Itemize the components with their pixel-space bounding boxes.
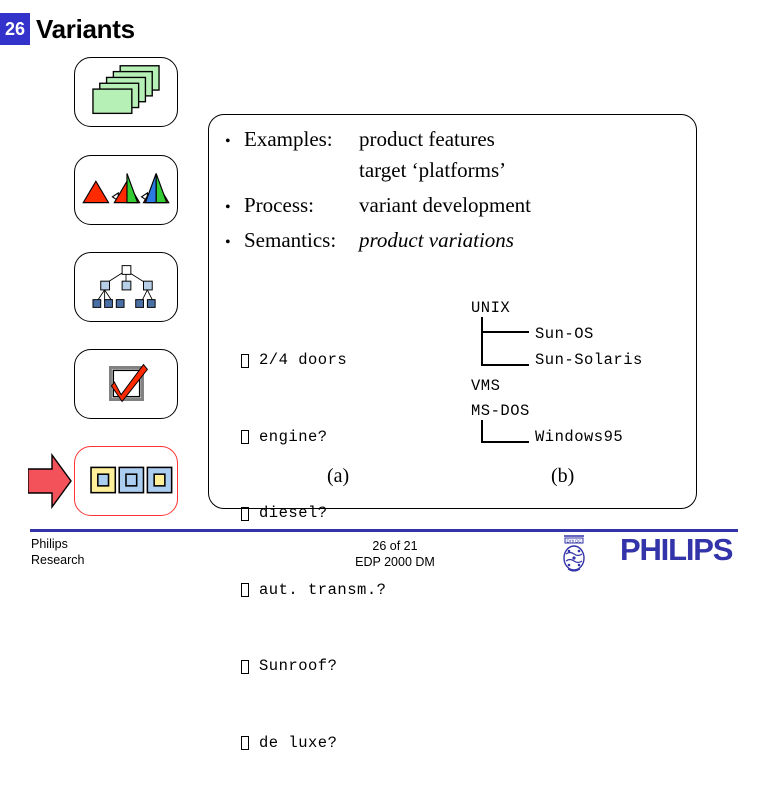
bullet-value: product variations — [359, 228, 514, 253]
figure-caption-b: (b) — [551, 465, 574, 488]
tree-node-sun-solaris[interactable]: Sun-Solaris — [535, 351, 643, 369]
bullet-label: Examples: — [244, 127, 359, 152]
feature-label: 2/4 doors — [259, 348, 347, 374]
bullet-value: product features — [359, 127, 495, 152]
svg-text:DHI DC: DHI DC — [566, 538, 581, 543]
sidebar-tile-hierarchy[interactable] — [74, 252, 178, 322]
footer-org-line2: Research — [31, 552, 85, 568]
feature-label: Sunroof? — [259, 654, 337, 680]
content-panel: • Examples: product features • target ‘p… — [208, 114, 697, 509]
bullet-row: • Examples: product features — [225, 127, 685, 152]
bullet-dot-icon: • — [225, 134, 244, 150]
empty-checkbox-icon[interactable] — [241, 430, 249, 444]
footer-organization: Philips Research — [31, 536, 85, 568]
platform-tree: UNIX Sun-OS Sun-Solaris VMS MS-DOS Windo… — [457, 297, 687, 457]
bullet-row: • Process: variant development — [225, 193, 685, 218]
feature-item: aut. transm.? — [241, 578, 386, 604]
footer-meta: 26 of 21 EDP 2000 DM — [330, 538, 460, 570]
empty-checkbox-icon[interactable] — [241, 583, 249, 597]
figure-caption-a: (a) — [327, 465, 349, 488]
hierarchy-tree-icon — [75, 253, 177, 321]
sidebar-tile-variants[interactable] — [74, 57, 178, 127]
checkbox-checked-icon — [75, 350, 177, 418]
empty-checkbox-icon[interactable] — [241, 354, 249, 368]
tree-node-vms[interactable]: VMS — [471, 377, 500, 395]
feature-item: Sunroof? — [241, 654, 386, 680]
tree-connector-vertical — [481, 317, 483, 366]
bullet-dot-icon: • — [225, 235, 244, 251]
tree-node-windows95[interactable]: Windows95 — [535, 428, 623, 446]
bullet-dot-icon: • — [225, 200, 244, 216]
active-slide-arrow-marker — [28, 452, 72, 510]
footer-org-line1: Philips — [31, 536, 85, 552]
empty-checkbox-icon[interactable] — [241, 507, 249, 521]
bullet-value: variant development — [359, 193, 531, 218]
tree-node-unix[interactable]: UNIX — [471, 299, 510, 317]
tree-node-sun-os[interactable]: Sun-OS — [535, 325, 594, 343]
philips-shield-icon: DHI DC — [556, 532, 592, 574]
feature-label: de luxe? — [259, 731, 337, 757]
sidebar-tile-evolution[interactable] — [74, 155, 178, 225]
bullet-list: • Examples: product features • target ‘p… — [225, 127, 685, 259]
sidebar-tile-checklist[interactable] — [74, 349, 178, 419]
tree-connector-horizontal — [481, 441, 529, 443]
figure-area: 2/4 doors engine? diesel? aut. transm.? … — [209, 297, 698, 502]
bullet-label: Semantics: — [244, 228, 359, 253]
bullet-row: • Semantics: product variations — [225, 228, 685, 253]
tree-connector-horizontal — [481, 331, 529, 333]
tree-connector-vertical — [481, 420, 483, 443]
bullet-label: Process: — [244, 193, 359, 218]
evolution-triangles-icon — [75, 156, 177, 224]
feature-label: diesel? — [259, 501, 328, 527]
slide-number-badge: 26 — [0, 13, 30, 45]
bullet-value: target ‘platforms’ — [359, 158, 506, 183]
tree-node-msdos[interactable]: MS-DOS — [471, 402, 530, 420]
philips-shield-logo: DHI DC — [556, 532, 592, 574]
variants-stack-icon — [75, 58, 177, 126]
event-name: EDP 2000 DM — [330, 554, 460, 570]
composition-squares-icon — [75, 447, 177, 515]
feature-label: engine? — [259, 425, 328, 451]
red-arrow-icon — [28, 452, 72, 510]
page-counter: 26 of 21 — [330, 538, 460, 554]
sidebar-tile-composition[interactable] — [74, 446, 178, 516]
empty-checkbox-icon[interactable] — [241, 660, 249, 674]
feature-item: 2/4 doors — [241, 348, 386, 374]
feature-item: engine? — [241, 425, 386, 451]
feature-label: aut. transm.? — [259, 578, 386, 604]
philips-wordmark: PHILIPS — [620, 532, 732, 568]
page-title: Variants — [36, 14, 135, 45]
bullet-row-continuation: • target ‘platforms’ — [225, 158, 685, 183]
tree-connector-horizontal — [481, 364, 529, 366]
empty-checkbox-icon[interactable] — [241, 736, 249, 750]
feature-item: de luxe? — [241, 731, 386, 757]
feature-item: diesel? — [241, 501, 386, 527]
